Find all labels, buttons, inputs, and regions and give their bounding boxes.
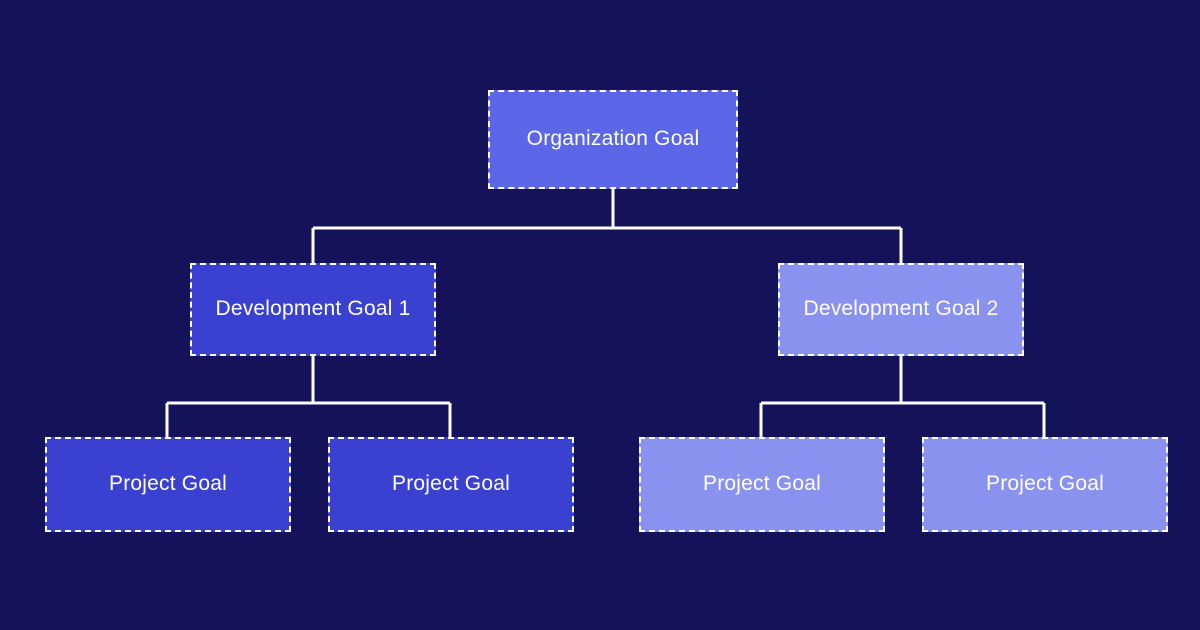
node-label-dev-goal-1: Development Goal 1 <box>205 296 420 322</box>
node-label-dev-goal-2: Development Goal 2 <box>793 296 1008 322</box>
node-proj-goal-4[interactable]: Project Goal <box>922 437 1168 532</box>
node-label-proj-goal-4: Project Goal <box>976 471 1114 497</box>
node-label-proj-goal-1: Project Goal <box>99 471 237 497</box>
node-label-proj-goal-3: Project Goal <box>693 471 831 497</box>
node-org-goal[interactable]: Organization Goal <box>488 90 738 189</box>
node-proj-goal-1[interactable]: Project Goal <box>45 437 291 532</box>
node-label-proj-goal-2: Project Goal <box>382 471 520 497</box>
goal-hierarchy-diagram: Organization GoalDevelopment Goal 1Devel… <box>0 0 1200 630</box>
node-dev-goal-1[interactable]: Development Goal 1 <box>190 263 436 356</box>
node-proj-goal-3[interactable]: Project Goal <box>639 437 885 532</box>
node-proj-goal-2[interactable]: Project Goal <box>328 437 574 532</box>
node-dev-goal-2[interactable]: Development Goal 2 <box>778 263 1024 356</box>
node-label-org-goal: Organization Goal <box>517 126 710 152</box>
